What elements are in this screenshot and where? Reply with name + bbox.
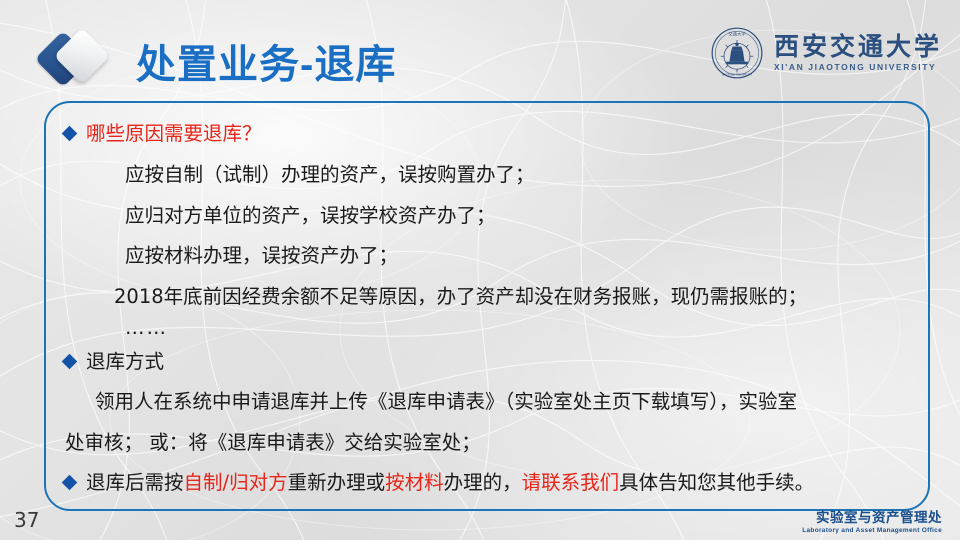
- footer-org-cn: 实验室与资产管理处: [802, 506, 942, 526]
- final-note-part-1: 退库后需按: [86, 471, 184, 494]
- page-title: 处置业务-退库: [136, 32, 396, 90]
- content-inner: 哪些原因需要退库？ 应按自制（试制）办理的资产，误按购置办了； 应归对方单位的资…: [46, 103, 932, 513]
- blue-diamond-bullet-icon: [62, 126, 78, 142]
- bullet-method-heading: 退库方式: [64, 345, 164, 374]
- final-note-part-4: 按材料: [385, 471, 444, 494]
- bullet-final-note: 退库后需按自制/归对方重新办理或按材料办理的，请联系我们具体告知您其他手续。: [64, 466, 814, 495]
- final-note-part-6: 请联系我们: [522, 471, 620, 494]
- reason-item-3: 应按材料办理，误按资产办了；: [125, 239, 398, 268]
- final-note-text: 退库后需按自制/归对方重新办理或按材料办理的，请联系我们具体告知您其他手续。: [86, 466, 814, 495]
- university-seal-icon: 交通大学 JIAOTONG UNIVERSITY: [710, 26, 764, 80]
- reasons-heading-text: 哪些原因需要退库？: [86, 117, 262, 146]
- final-note-part-7: 具体告知您其他手续。: [619, 471, 814, 494]
- bullet-reasons-heading: 哪些原因需要退库？: [64, 117, 262, 146]
- final-note-part-2: 自制/归对方: [184, 471, 288, 494]
- final-note-part-5: 办理的，: [444, 471, 522, 494]
- blue-diamond-bullet-icon: [62, 354, 78, 370]
- svg-text:交通大学: 交通大学: [728, 31, 746, 38]
- university-name-cn: 西安交通大学: [774, 34, 942, 60]
- method-heading-text: 退库方式: [86, 345, 164, 374]
- university-name-en: XI'AN JIAOTONG UNIVERSITY: [774, 62, 936, 72]
- diamond-pair-logo-icon: [43, 30, 109, 88]
- reason-item-2: 应归对方单位的资产，误按学校资产办了；: [125, 199, 496, 228]
- slide-canvas: 处置业务-退库: [0, 0, 960, 540]
- footer-org-en: Laboratory and Asset Management Office: [802, 527, 942, 534]
- reason-item-1: 应按自制（试制）办理的资产，误按购置办了；: [125, 158, 535, 187]
- method-line-1: 领用人在系统中申请退库并上传《退库申请表》（实验室处主页下载填写），实验室: [95, 385, 797, 414]
- content-box: 哪些原因需要退库？ 应按自制（试制）办理的资产，误按购置办了； 应归对方单位的资…: [44, 101, 930, 511]
- svg-text:JIAOTONG UNIVERSITY: JIAOTONG UNIVERSITY: [721, 73, 753, 77]
- reason-item-4: 2018年底前因经费余额不足等原因，办了资产却没在财务报账，现仍需报账的；: [114, 280, 807, 309]
- blue-diamond-bullet-icon: [62, 475, 78, 491]
- slide-header: 处置业务-退库: [0, 0, 960, 98]
- footer-organization: 实验室与资产管理处 Laboratory and Asset Managemen…: [802, 506, 942, 534]
- university-name-block: 西安交通大学 XI'AN JIAOTONG UNIVERSITY: [774, 34, 942, 72]
- final-note-part-3: 重新办理或: [288, 471, 386, 494]
- university-logo: 交通大学 JIAOTONG UNIVERSITY 西安交通大学 XI'AN JI…: [710, 26, 942, 80]
- page-number: 37: [14, 508, 39, 532]
- reason-item-5: ……: [125, 316, 168, 339]
- method-line-2: 处审核； 或：将《退库申请表》交给实验室处；: [65, 426, 481, 455]
